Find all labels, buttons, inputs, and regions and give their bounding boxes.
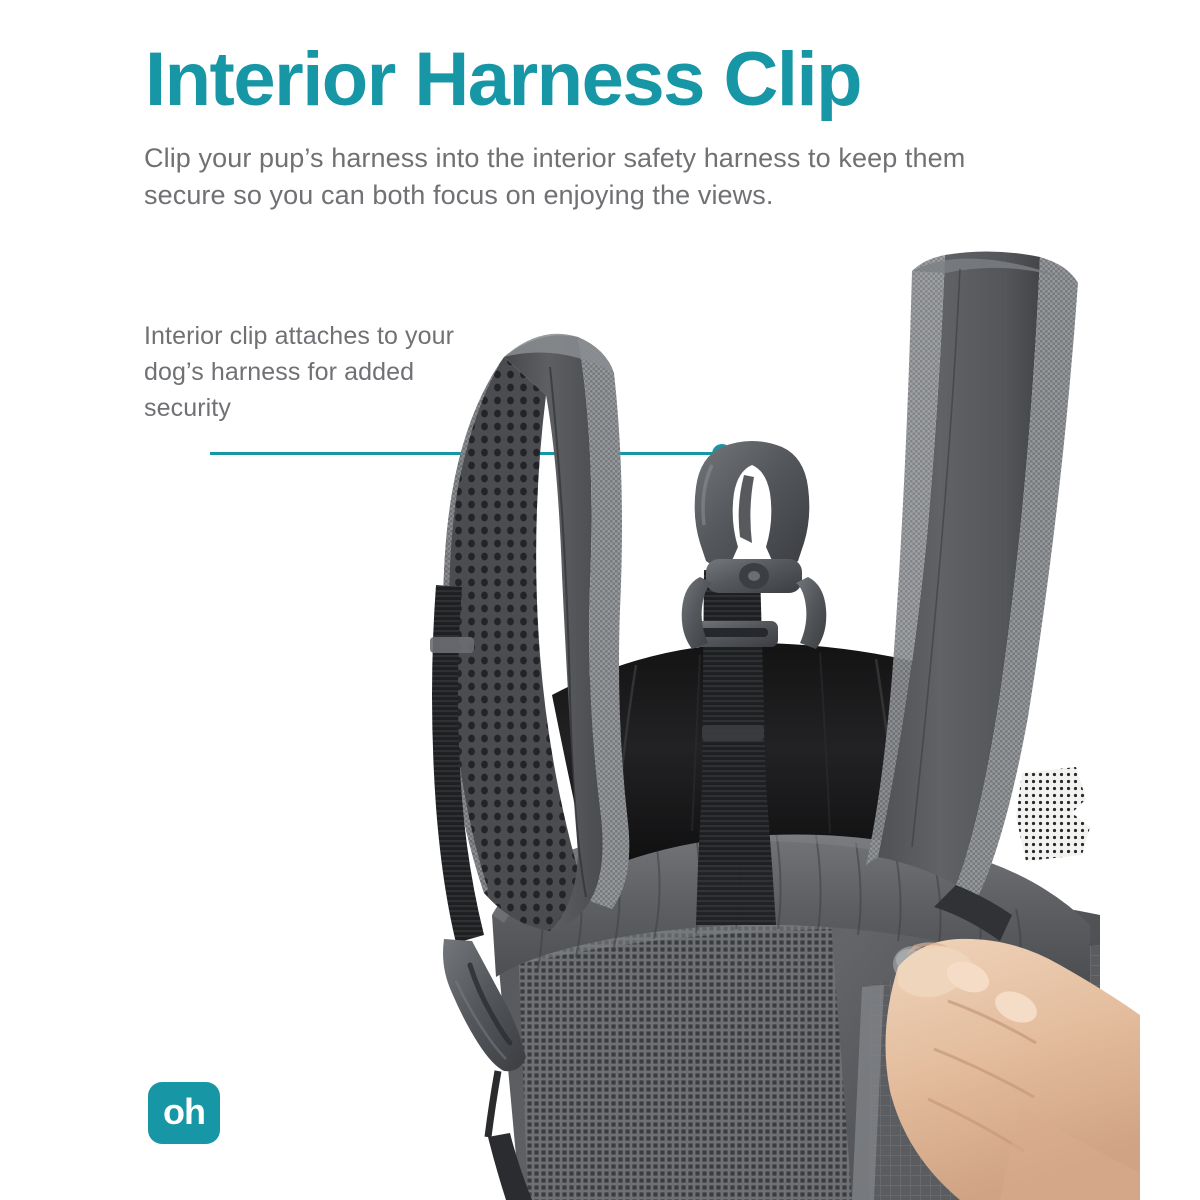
product-photo — [400, 225, 1140, 1200]
brand-logo-text: oh — [163, 1094, 205, 1130]
page-subtitle: Clip your pup’s harness into the interio… — [144, 140, 974, 214]
reflective-checker-tag — [1016, 767, 1090, 861]
infographic-page: Interior Harness Clip Clip your pup’s ha… — [0, 0, 1200, 1200]
front-mesh-panel — [518, 911, 852, 1200]
left-padded-shoulder-strap — [443, 334, 629, 931]
hand — [886, 939, 1141, 1200]
page-title: Interior Harness Clip — [145, 38, 861, 122]
brand-logo: oh — [148, 1082, 220, 1144]
adjustable-webbing-strap — [690, 570, 778, 925]
